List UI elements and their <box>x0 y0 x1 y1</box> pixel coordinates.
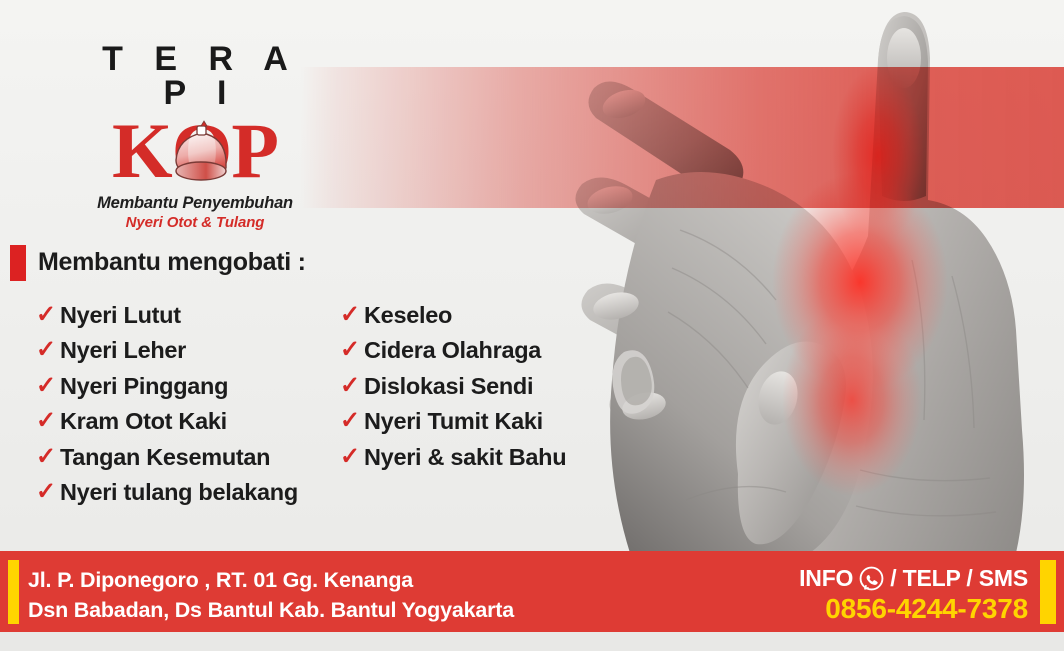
list-item: ✓ Kram Otot Kaki <box>36 409 356 434</box>
footer-accent-right <box>1040 560 1056 624</box>
list-item-label: Kram Otot Kaki <box>60 409 227 434</box>
bottom-strip <box>0 632 1064 651</box>
footer-accent-left <box>8 560 19 624</box>
list-item-label: Keseleo <box>364 303 452 328</box>
address-line-2: Dsn Babadan, Ds Bantul Kab. Bantul Yogya… <box>28 595 514 625</box>
address-block: Jl. P. Diponegoro , RT. 01 Gg. Kenanga D… <box>28 565 514 625</box>
list-item: ✓ Keseleo <box>340 303 640 328</box>
whatsapp-icon[interactable] <box>859 566 884 591</box>
flyer-card: T E R A P I KOP <box>0 0 1064 651</box>
address-line-1: Jl. P. Diponegoro , RT. 01 Gg. Kenanga <box>28 565 514 595</box>
list-item-label: Nyeri Lutut <box>60 303 181 328</box>
check-icon: ✓ <box>340 409 364 433</box>
list-item: ✓ Nyeri tulang belakang <box>36 480 356 505</box>
list-item: ✓ Nyeri Leher <box>36 338 356 363</box>
heading-accent-block <box>10 245 26 281</box>
check-icon: ✓ <box>36 338 60 362</box>
contact-label-channels: / TELP / SMS <box>890 563 1028 593</box>
check-icon: ✓ <box>36 445 60 469</box>
conditions-column-right: ✓ Keseleo ✓ Cidera Olahraga ✓ Dislokasi … <box>340 303 640 480</box>
check-icon: ✓ <box>340 374 364 398</box>
check-icon: ✓ <box>36 480 60 504</box>
brand-title-main-wrap: KOP <box>70 112 320 190</box>
list-item-label: Nyeri Pinggang <box>60 374 228 399</box>
list-item-label: Tangan Kesemutan <box>60 445 270 470</box>
brand-title-top: T E R A P I <box>70 42 320 110</box>
check-icon: ✓ <box>340 303 364 327</box>
list-item: ✓ Cidera Olahraga <box>340 338 640 363</box>
check-icon: ✓ <box>36 303 60 327</box>
check-icon: ✓ <box>36 409 60 433</box>
list-item: ✓ Tangan Kesemutan <box>36 445 356 470</box>
list-item-label: Nyeri tulang belakang <box>60 480 298 505</box>
phone-number[interactable]: 0856-4244-7378 <box>799 593 1028 625</box>
list-item: ✓ Nyeri Lutut <box>36 303 356 328</box>
list-item: ✓ Nyeri Pinggang <box>36 374 356 399</box>
list-item-label: Cidera Olahraga <box>364 338 541 363</box>
check-icon: ✓ <box>340 445 364 469</box>
list-item-label: Dislokasi Sendi <box>364 374 533 399</box>
contact-channels: INFO / TELP / SMS <box>799 563 1028 593</box>
brand-tagline-secondary: Nyeri Otot & Tulang <box>70 214 320 231</box>
brand-tagline-primary: Membantu Penyembuhan <box>70 194 320 213</box>
check-icon: ✓ <box>340 338 364 362</box>
list-item: ✓ Nyeri & sakit Bahu <box>340 445 640 470</box>
section-heading: Membantu mengobati : <box>38 248 306 277</box>
contact-footer: Jl. P. Diponegoro , RT. 01 Gg. Kenanga D… <box>0 551 1064 632</box>
conditions-column-left: ✓ Nyeri Lutut ✓ Nyeri Leher ✓ Nyeri Ping… <box>36 303 356 515</box>
list-item-label: Nyeri Leher <box>60 338 186 363</box>
brand-logo: T E R A P I KOP <box>70 42 320 231</box>
list-item-label: Nyeri & sakit Bahu <box>364 445 566 470</box>
list-item: ✓ Dislokasi Sendi <box>340 374 640 399</box>
cupping-glass-icon <box>166 120 238 186</box>
list-item-label: Nyeri Tumit Kaki <box>364 409 543 434</box>
contact-block: INFO / TELP / SMS 0856-4244-7378 <box>799 563 1028 625</box>
contact-label-info: INFO <box>799 563 853 593</box>
list-item: ✓ Nyeri Tumit Kaki <box>340 409 640 434</box>
check-icon: ✓ <box>36 374 60 398</box>
